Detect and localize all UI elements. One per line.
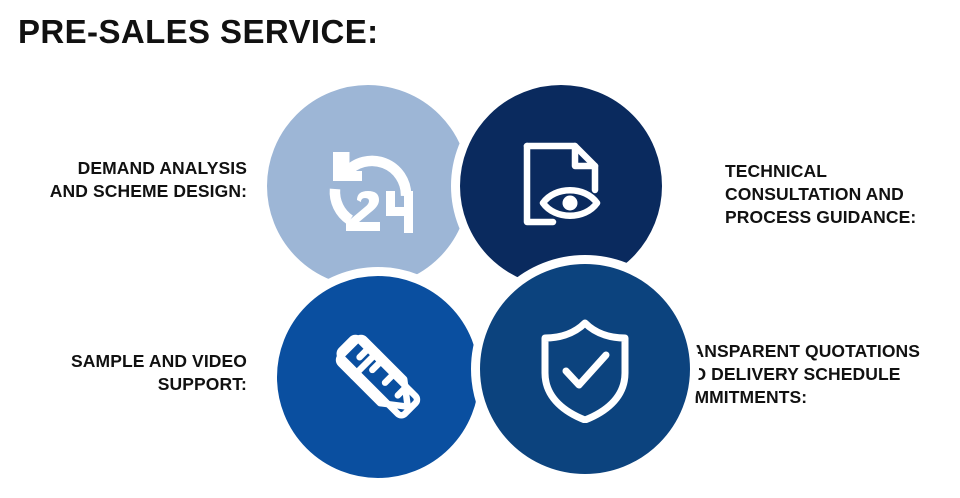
circle-transparent-quotations[interactable] <box>471 255 699 483</box>
shield-check-icon <box>533 315 637 423</box>
label-line: TECHNICAL <box>725 160 960 183</box>
label-line: SUPPORT: <box>0 373 247 396</box>
label-line: COMMITMENTS: <box>668 386 960 409</box>
document-eye-icon <box>509 134 613 238</box>
circle-demand-analysis[interactable] <box>258 76 478 296</box>
label-line: TRANSPARENT QUOTATIONS <box>668 340 960 363</box>
label-technical-consultation: TECHNICAL CONSULTATION AND PROCESS GUIDA… <box>725 160 960 229</box>
circle-cluster <box>255 73 685 493</box>
label-sample-video-support: SAMPLE AND VIDEO SUPPORT: <box>0 350 247 396</box>
label-line: AND SCHEME DESIGN: <box>0 180 247 203</box>
24-hour-rotate-icon <box>315 134 421 238</box>
page-title: PRE-SALES SERVICE: <box>18 13 379 51</box>
label-line: CONSULTATION AND <box>725 183 960 206</box>
label-line: AND DELIVERY SCHEDULE <box>668 363 960 386</box>
pencil-ruler-icon <box>325 324 431 430</box>
label-demand-analysis: DEMAND ANALYSIS AND SCHEME DESIGN: <box>0 157 247 203</box>
label-transparent-quotations: TRANSPARENT QUOTATIONS AND DELIVERY SCHE… <box>668 340 960 409</box>
label-line: SAMPLE AND VIDEO <box>0 350 247 373</box>
label-line: DEMAND ANALYSIS <box>0 157 247 180</box>
label-line: PROCESS GUIDANCE: <box>725 206 960 229</box>
circle-sample-video-support[interactable] <box>268 267 488 487</box>
